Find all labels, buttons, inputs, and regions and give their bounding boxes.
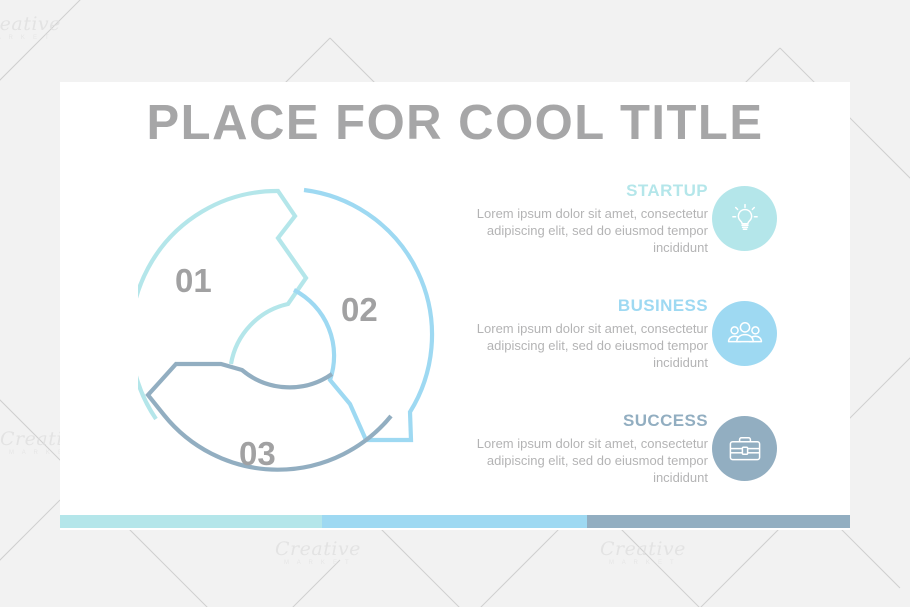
info-row-text: STARTUP Lorem ipsum dolor sit amet, cons…	[476, 182, 708, 257]
segment-number-01: 01	[175, 264, 212, 297]
segment-number-02: 02	[341, 293, 378, 326]
info-row-title: BUSINESS	[476, 297, 708, 316]
page-title: PLACE FOR COOL TITLE	[60, 99, 850, 148]
info-row-icon-badge[interactable]	[712, 186, 777, 251]
info-row-icon-badge[interactable]	[712, 301, 777, 366]
info-row-text: BUSINESS Lorem ipsum dolor sit amet, con…	[476, 297, 708, 372]
info-row-title: SUCCESS	[476, 412, 708, 431]
info-row-body: Lorem ipsum dolor sit amet, consectetur …	[476, 320, 708, 372]
spiral-cycle-diagram: 01 02 03	[138, 168, 468, 504]
info-row-text: SUCCESS Lorem ipsum dolor sit amet, cons…	[476, 412, 708, 487]
info-row-body: Lorem ipsum dolor sit amet, consectetur …	[476, 205, 708, 257]
segment-number-03: 03	[239, 437, 276, 470]
info-row-icon-badge[interactable]	[712, 416, 777, 481]
info-row-startup[interactable]: STARTUP Lorem ipsum dolor sit amet, cons…	[476, 182, 794, 282]
progress-bar-segment-1	[60, 515, 322, 528]
info-row-success[interactable]: SUCCESS Lorem ipsum dolor sit amet, cons…	[476, 412, 794, 512]
spiral-cycle-svg	[138, 168, 468, 504]
progress-bar-segment-3	[587, 515, 850, 528]
progress-bar	[60, 515, 850, 528]
people-group-icon	[727, 319, 763, 349]
lightbulb-icon	[728, 202, 762, 236]
progress-bar-segment-2	[322, 515, 587, 528]
briefcase-icon	[727, 434, 763, 464]
info-row-title: STARTUP	[476, 182, 708, 201]
info-row-body: Lorem ipsum dolor sit amet, consectetur …	[476, 435, 708, 487]
info-row-business[interactable]: BUSINESS Lorem ipsum dolor sit amet, con…	[476, 297, 794, 397]
